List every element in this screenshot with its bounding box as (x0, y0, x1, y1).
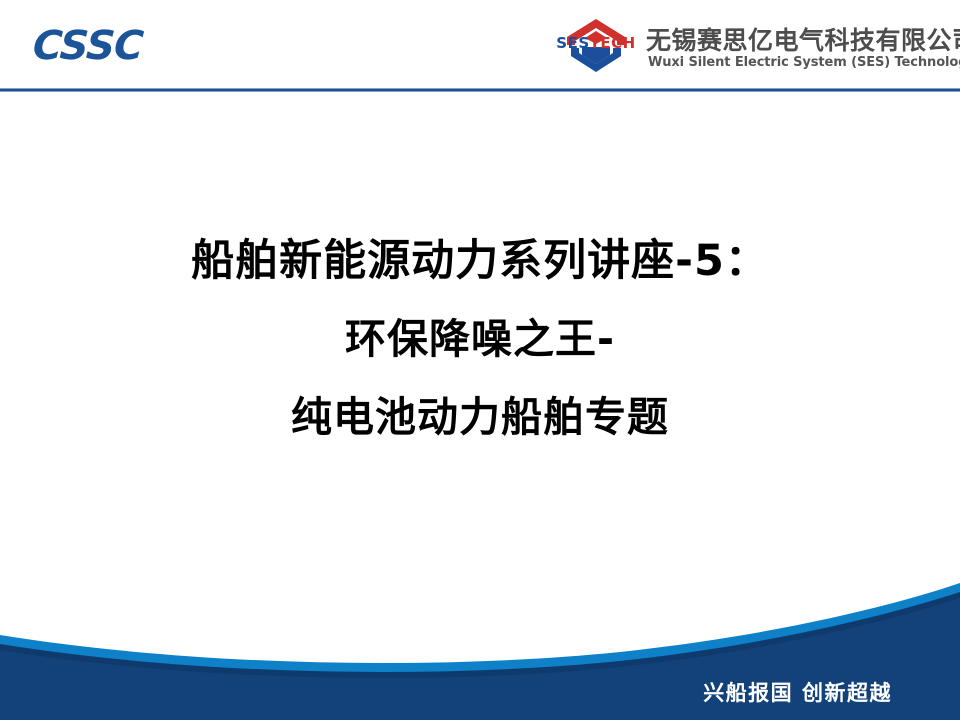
slide-title-block: 船舶新能源动力系列讲座-5： 环保降噪之王- 纯电池动力船舶专题 (0, 222, 960, 456)
footer-slogan: 兴船报国 创新超越 (703, 677, 892, 707)
header-divider (0, 88, 960, 92)
cssc-wordmark: CSSC (31, 24, 164, 68)
slide-title-line-2: 环保降噪之王- (0, 300, 960, 378)
sestech-wordmark: SESTECH (544, 36, 648, 51)
slide-header: CSSC SESTECH 无锡赛思亿电气科技有限公司 Wuxi Silent E… (0, 0, 960, 90)
sestech-logo-mark: SESTECH (557, 16, 635, 78)
slide-title-line-3: 纯电池动力船舶专题 (0, 378, 960, 456)
sestech-wordmark-ses: SES (556, 34, 589, 52)
company-name-english: Wuxi Silent Electric System (SES) Techno… (648, 55, 960, 70)
slide-title-line-1: 船舶新能源动力系列讲座-5： (0, 222, 960, 300)
footer-wave-decoration: 兴船报国 创新超越 (0, 580, 960, 720)
cssc-logo: CSSC (33, 24, 163, 68)
sestech-wordmark-tech: TECH (590, 34, 636, 52)
company-name-chinese: 无锡赛思亿电气科技有限公司 (646, 21, 960, 57)
slide-canvas: CSSC SESTECH 无锡赛思亿电气科技有限公司 Wuxi Silent E… (0, 0, 960, 720)
